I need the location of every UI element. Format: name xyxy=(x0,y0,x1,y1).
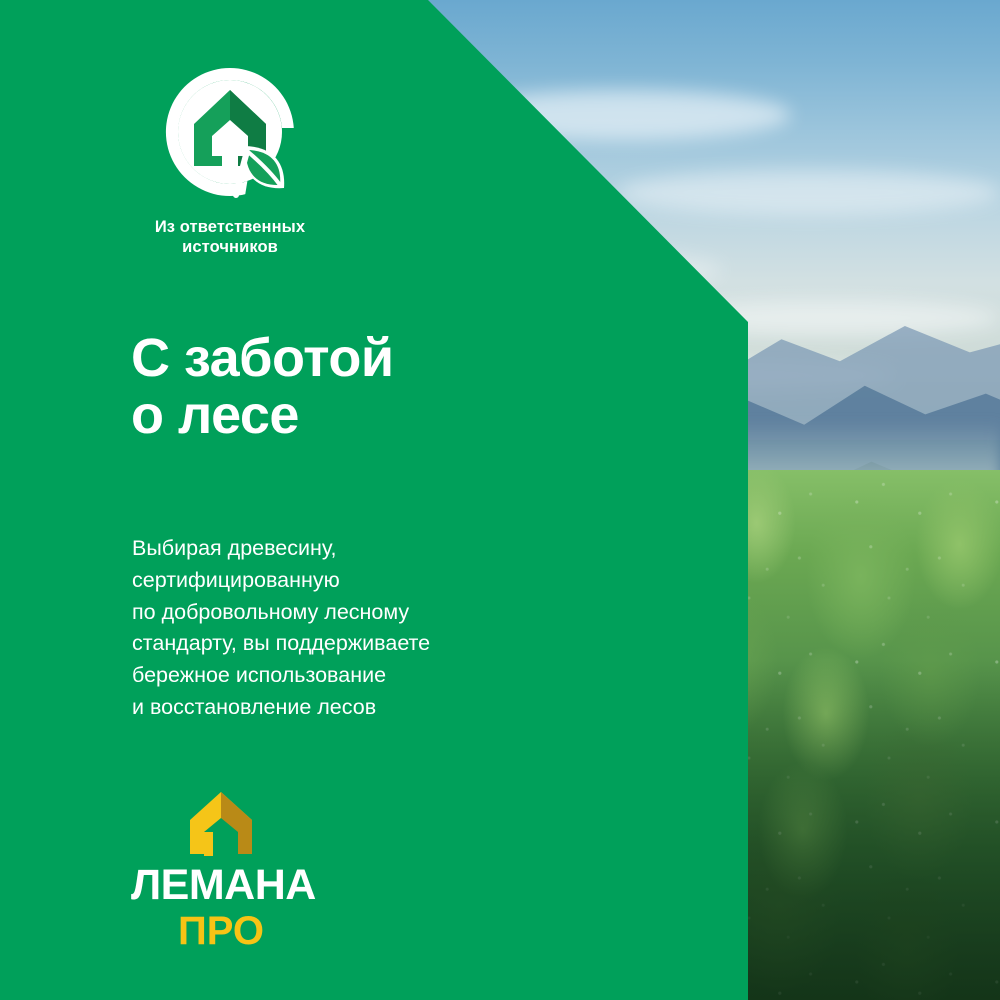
eco-badge-caption: Из ответственных источников xyxy=(130,218,330,258)
brand-sub-name: ПРО xyxy=(131,911,311,951)
lemana-roof-icon xyxy=(188,790,254,856)
brand-lockup: ЛЕМАНА ПРО xyxy=(131,790,311,951)
page-title: С заботой о лесе xyxy=(131,330,651,444)
poster-canvas: Из ответственных источников С заботой о … xyxy=(0,0,1000,1000)
brand-name: ЛЕМАНА xyxy=(131,864,311,907)
eco-badge: Из ответственных источников xyxy=(130,62,330,258)
body-copy: Выбирая древесину, сертифицированную по … xyxy=(132,533,652,724)
eco-house-leaf-circle-logo xyxy=(160,62,300,202)
